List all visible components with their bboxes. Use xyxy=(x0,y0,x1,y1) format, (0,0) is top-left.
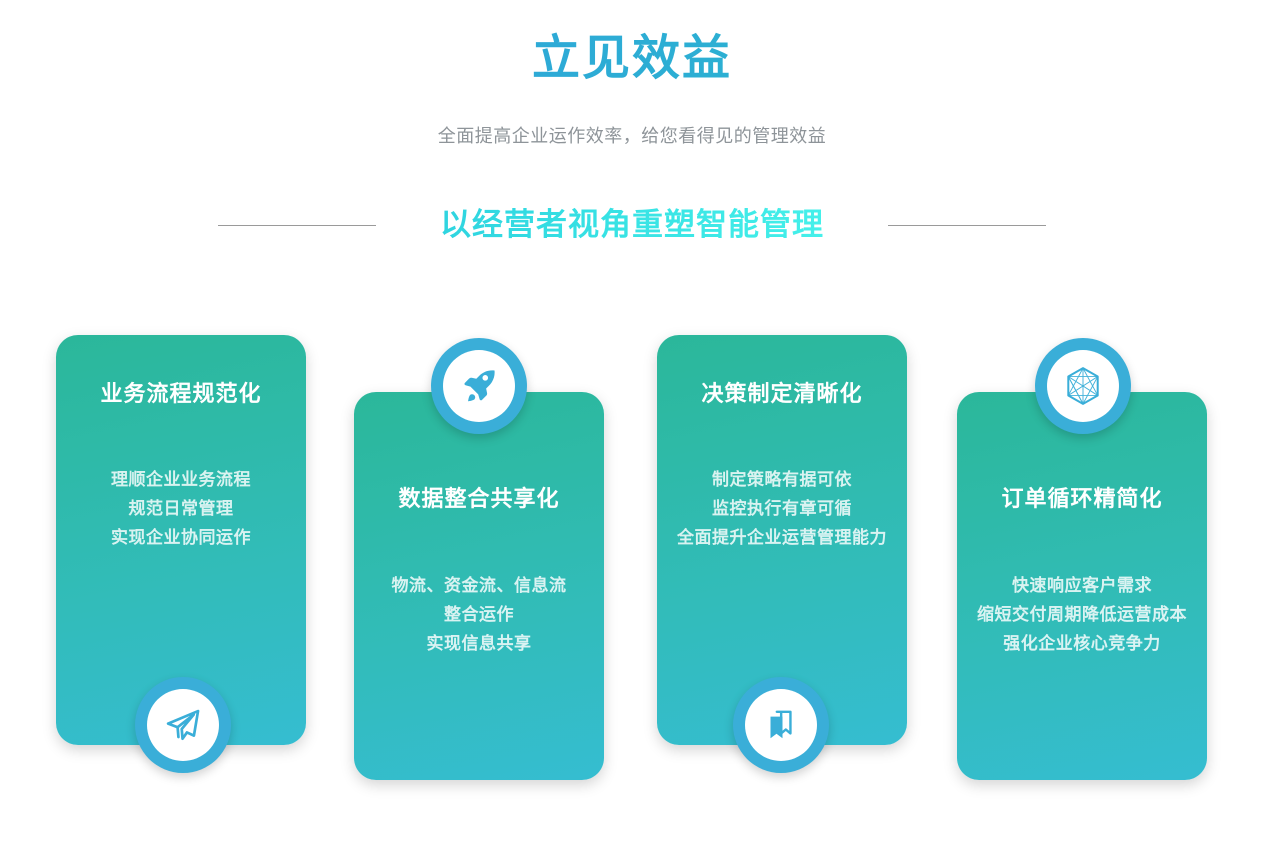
bookmark-icon xyxy=(763,707,799,743)
feature-card-data-integration[interactable]: 数据整合共享化 物流、资金流、信息流 整合运作 实现信息共享 xyxy=(354,392,604,780)
card-body-line: 制定策略有据可依 xyxy=(675,465,889,494)
card-body-line: 规范日常管理 xyxy=(74,494,288,523)
badge-disc xyxy=(1047,350,1119,422)
card-badge-decision-making[interactable] xyxy=(733,677,829,773)
card-title: 订单循环精简化 xyxy=(975,484,1189,514)
card-body-line: 实现信息共享 xyxy=(372,629,586,658)
card-body-line: 全面提升企业运营管理能力 xyxy=(675,523,889,552)
badge-disc xyxy=(443,350,515,422)
card-body-line: 缩短交付周期降低运营成本 xyxy=(975,600,1189,629)
card-body-line: 监控执行有章可循 xyxy=(675,494,889,523)
hexagon-network-icon xyxy=(1062,365,1104,407)
card-badge-business-process[interactable] xyxy=(135,677,231,773)
feature-card-order-cycle[interactable]: 订单循环精简化 快速响应客户需求 缩短交付周期降低运营成本 强化企业核心竞争力 xyxy=(957,392,1207,780)
card-title: 数据整合共享化 xyxy=(372,484,586,514)
card-title: 决策制定清晰化 xyxy=(675,379,889,409)
card-body: 理顺企业业务流程 规范日常管理 实现企业协同运作 xyxy=(74,465,288,552)
badge-disc xyxy=(745,689,817,761)
card-body-line: 快速响应客户需求 xyxy=(975,571,1189,600)
card-body-line: 理顺企业业务流程 xyxy=(74,465,288,494)
rocket-icon xyxy=(460,367,498,405)
card-body-line: 强化企业核心竞争力 xyxy=(975,629,1189,658)
card-badge-data-integration[interactable] xyxy=(431,338,527,434)
feature-card-grid: 业务流程规范化 理顺企业业务流程 规范日常管理 实现企业协同运作 数据整合共享化… xyxy=(0,0,1264,859)
badge-disc xyxy=(147,689,219,761)
card-body: 物流、资金流、信息流 整合运作 实现信息共享 xyxy=(372,571,586,658)
paper-plane-icon xyxy=(164,706,202,744)
card-body-line: 实现企业协同运作 xyxy=(74,523,288,552)
card-title: 业务流程规范化 xyxy=(74,379,288,409)
card-body-line: 整合运作 xyxy=(372,600,586,629)
card-badge-order-cycle[interactable] xyxy=(1035,338,1131,434)
card-body: 快速响应客户需求 缩短交付周期降低运营成本 强化企业核心竞争力 xyxy=(975,571,1189,658)
card-body: 制定策略有据可依 监控执行有章可循 全面提升企业运营管理能力 xyxy=(675,465,889,552)
card-body-line: 物流、资金流、信息流 xyxy=(372,571,586,600)
